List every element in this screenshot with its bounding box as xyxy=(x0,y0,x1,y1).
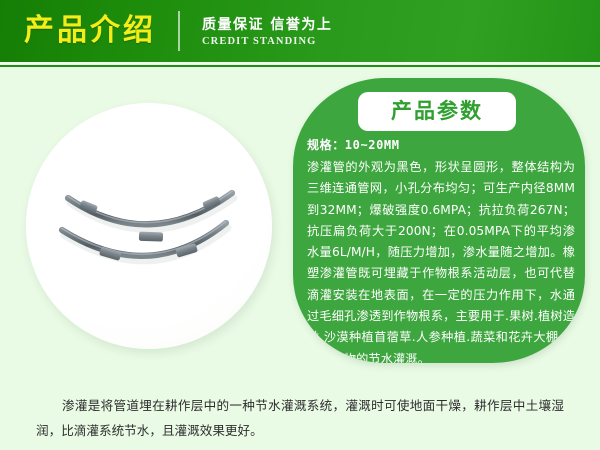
header-subtitle-group: 质量保证 信誉为上 CREDIT STANDING xyxy=(202,14,332,49)
header-divider xyxy=(178,11,180,51)
seepage-hose-illustration xyxy=(26,103,272,349)
header-content: 产品介绍 质量保证 信誉为上 CREDIT STANDING xyxy=(24,0,332,62)
footer-description: 渗灌是将管道埋在耕作层中的一种节水灌溉系统，灌溉时可使地面干燥，耕作层中土壤湿润… xyxy=(36,393,564,443)
product-photo xyxy=(26,103,272,349)
spec-panel-title: 产品参数 xyxy=(391,101,483,122)
spec-title-pill: 产品参数 xyxy=(358,92,516,131)
page-title: 产品介绍 xyxy=(24,16,178,46)
header-subtitle-chinese: 质量保证 信誉为上 xyxy=(202,16,332,34)
page-header-banner: 产品介绍 质量保证 信誉为上 CREDIT STANDING xyxy=(0,0,600,62)
spec-panel-body: 规格：10~20MM 渗灌管的外观为黑色，形状呈圆形，整体结构为三维连通管网，小… xyxy=(307,135,575,363)
spec-description-text: 渗灌管的外观为黑色，形状呈圆形，整体结构为三维连通管网，小孔分布均匀；可生产内径… xyxy=(307,157,575,363)
header-underline-green xyxy=(0,65,600,67)
product-parameters-panel: 产品参数 规格：10~20MM 渗灌管的外观为黑色，形状呈圆形，整体结构为三维连… xyxy=(293,78,585,363)
product-intro-page: 产品介绍 质量保证 信誉为上 CREDIT STANDING xyxy=(0,0,600,450)
header-subtitle-english: CREDIT STANDING xyxy=(202,34,332,49)
spec-size-label: 规格：10~20MM xyxy=(307,135,575,156)
